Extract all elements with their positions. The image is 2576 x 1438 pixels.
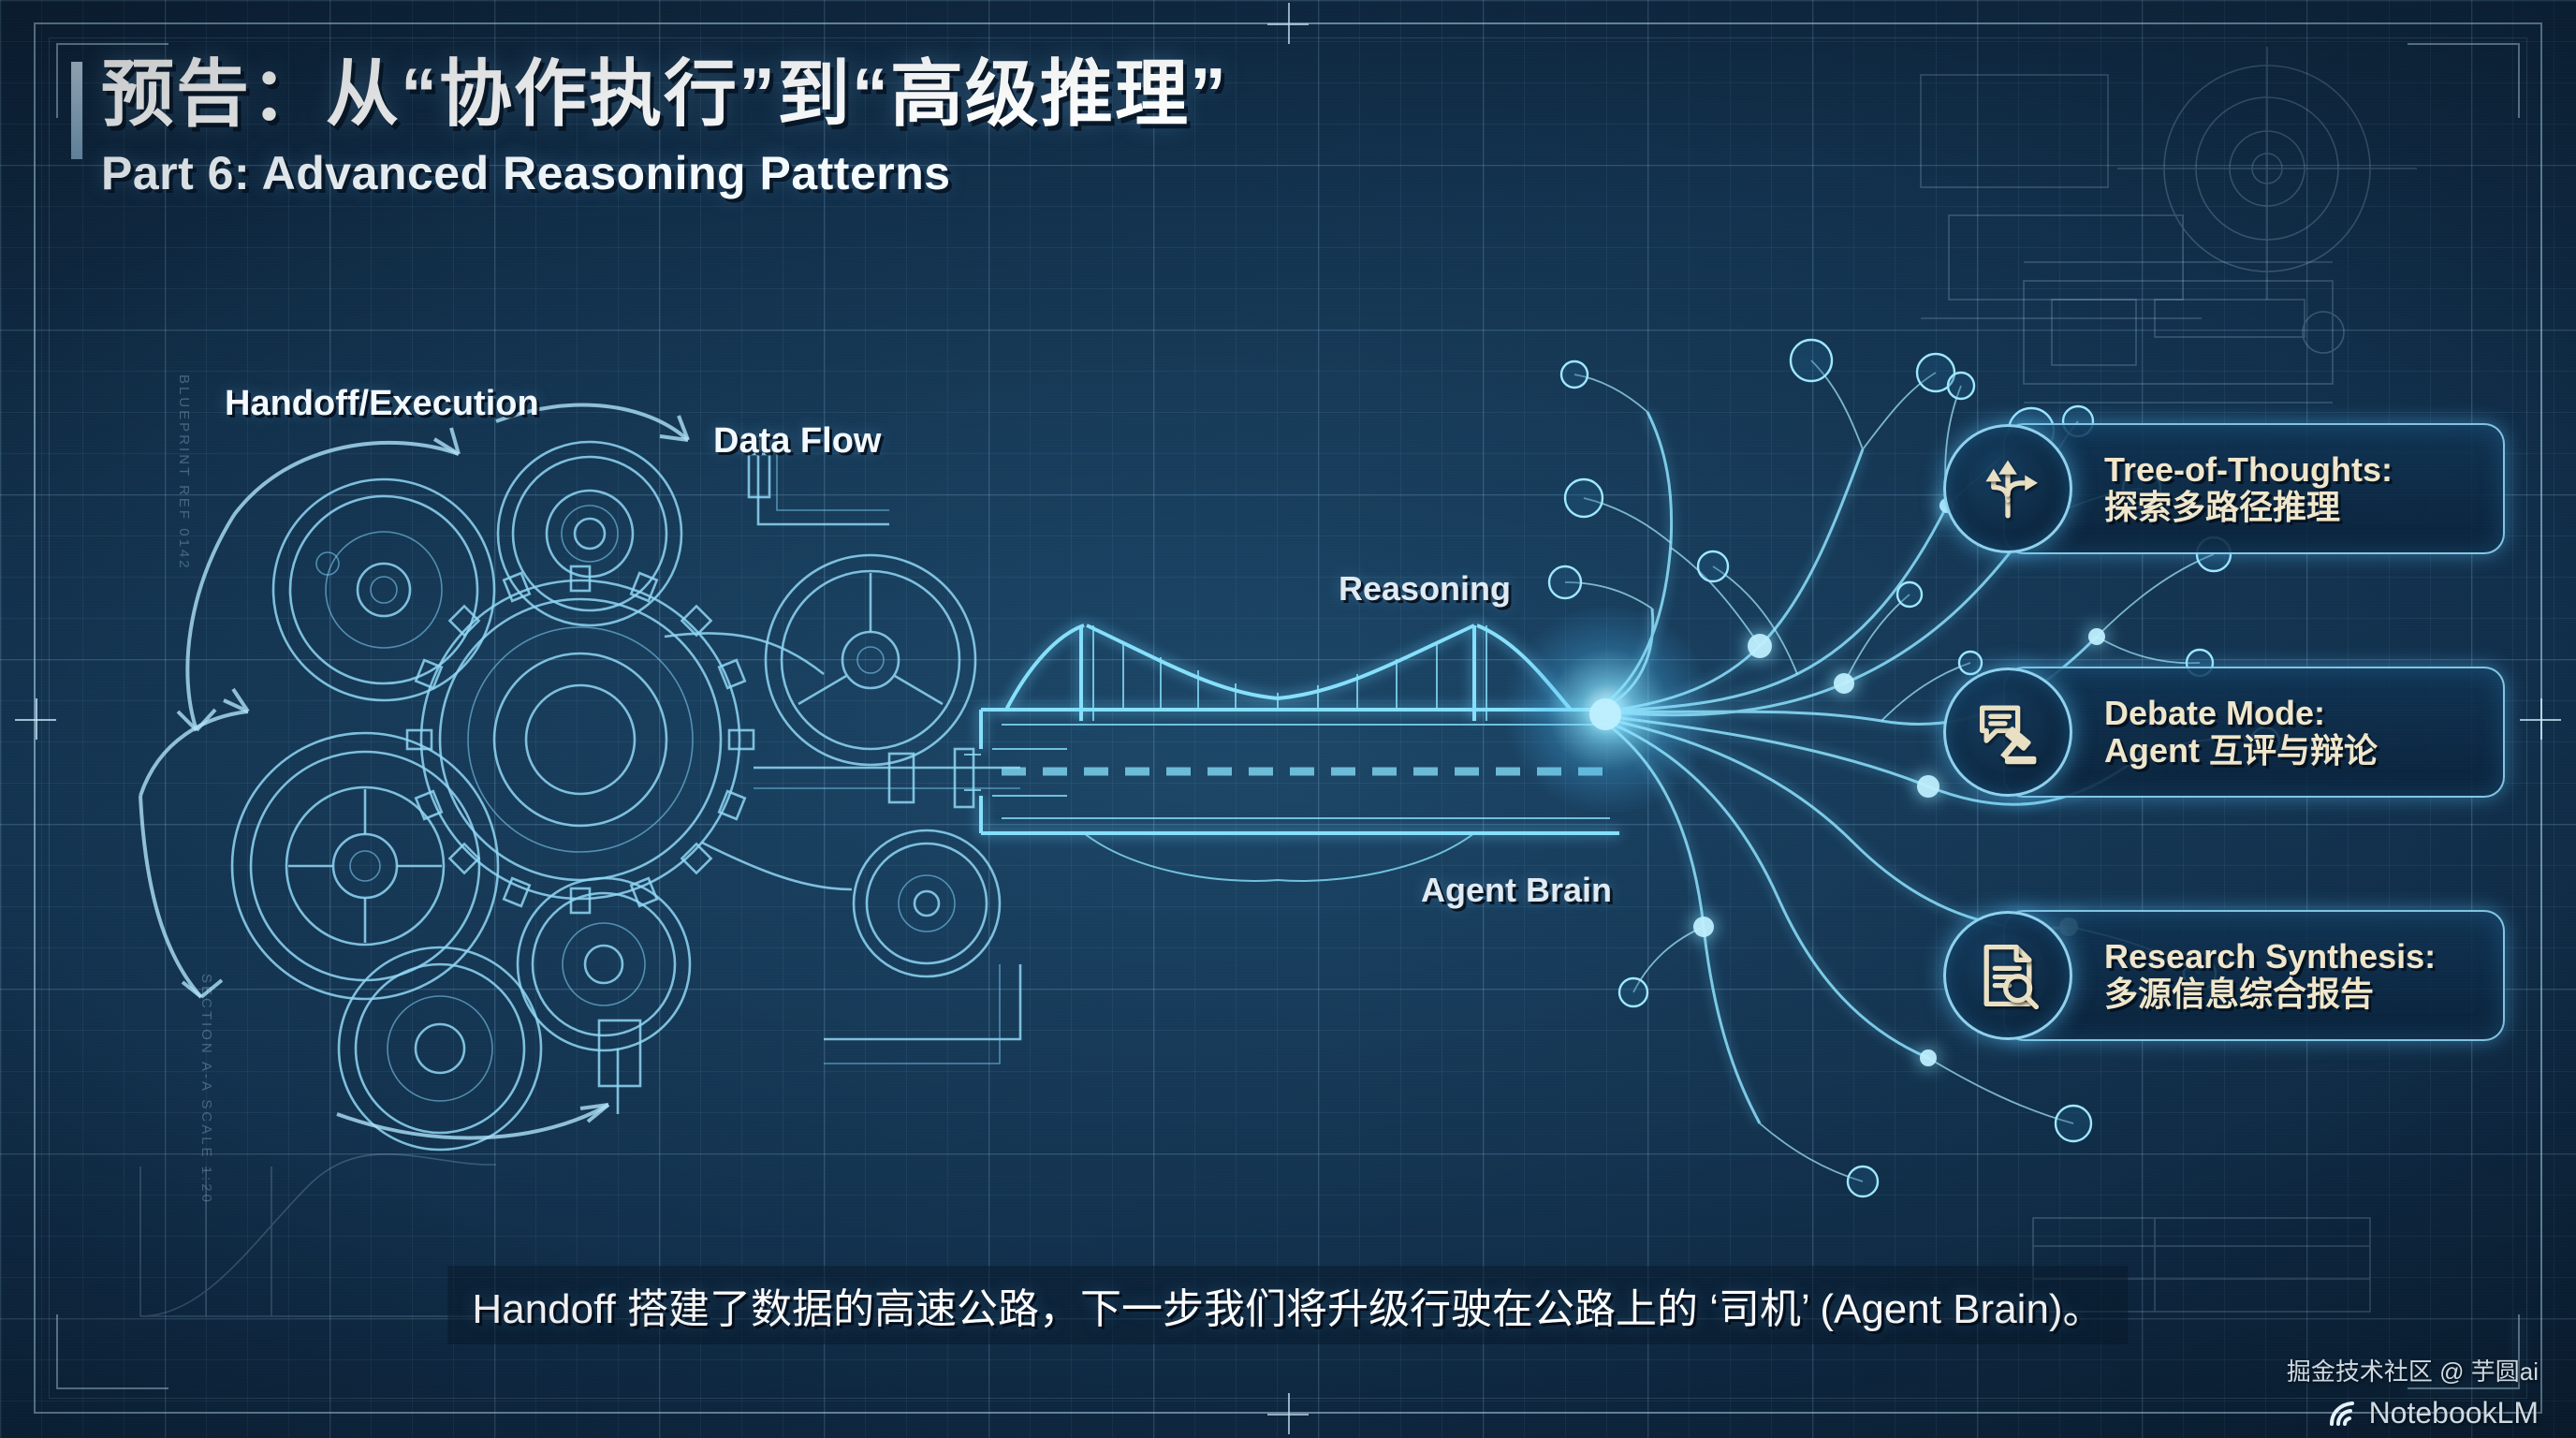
gear-bottom-center: [518, 878, 690, 1050]
caption-text: Handoff 搭建了数据的高速公路，下一步我们将升级行驶在公路上的 ‘司机’ …: [472, 1286, 2103, 1332]
gear-cluster-diagram: [178, 403, 1020, 1114]
watermark-community: 掘金技术社区 @ 芋圆ai: [2287, 1353, 2539, 1387]
card-title-line1: Debate Mode:: [2104, 695, 2378, 732]
watermark-notebooklm-label: NotebookLM: [2369, 1396, 2539, 1431]
frame-corner-top-left: [56, 43, 168, 118]
card-tree-of-thoughts[interactable]: Tree-of-Thoughts: 探索多路径推理: [1943, 423, 2505, 554]
slide-header: 预告：从“协作执行”到“高级推理” Part 6: Advanced Reaso…: [101, 54, 1228, 200]
card-title-line2: Agent 互评与辩论: [2104, 732, 2378, 770]
card-title-line1: Research Synthesis:: [2104, 938, 2436, 976]
frame-corner-bottom-left: [56, 1314, 168, 1389]
slide-root: BLUEPRINT REF 0142 SECTION A-A SCALE 1:2…: [0, 0, 2576, 1438]
label-handoff-execution: Handoff/Execution: [225, 384, 539, 424]
notebooklm-logo-icon: [2328, 1400, 2360, 1428]
card-text: Research Synthesis: 多源信息综合报告: [2104, 938, 2436, 1014]
speech-gavel-icon: [1943, 668, 2072, 797]
gear-upper-left: [273, 479, 494, 700]
reasoning-pattern-cards: Tree-of-Thoughts: 探索多路径推理 Debate Mode:: [1943, 423, 2505, 1041]
gear-large-center: [407, 566, 754, 913]
card-text: Tree-of-Thoughts: 探索多路径推理: [2104, 451, 2393, 527]
piping-and-fittings: [599, 440, 1020, 1114]
card-research-synthesis[interactable]: Research Synthesis: 多源信息综合报告: [1943, 910, 2505, 1041]
page-subtitle: Part 6: Advanced Reasoning Patterns: [101, 146, 1228, 200]
card-title-line1: Tree-of-Thoughts:: [2104, 451, 2393, 489]
card-title-line2: 探索多路径推理: [2104, 489, 2393, 526]
gear-top-small: [498, 442, 681, 625]
watermark-notebooklm: NotebookLM: [2328, 1396, 2539, 1431]
card-debate-mode[interactable]: Debate Mode: Agent 互评与辩论: [1943, 667, 2505, 798]
gear-bottom-left-small: [339, 947, 541, 1150]
label-reasoning: Reasoning: [1339, 569, 1511, 609]
subtitle-caption: Handoff 搭建了数据的高速公路，下一步我们将升级行驶在公路上的 ‘司机’ …: [447, 1266, 2128, 1344]
label-data-flow: Data Flow: [713, 421, 881, 462]
gear-arrows: [140, 405, 688, 1138]
frame-corner-top-right: [2408, 43, 2520, 118]
gear-right-three-spoke: [766, 555, 975, 765]
card-text: Debate Mode: Agent 互评与辩论: [2104, 695, 2378, 770]
label-agent-brain: Agent Brain: [1421, 871, 1612, 910]
branching-arrows-icon: [1943, 424, 2072, 553]
card-title-line2: 多源信息综合报告: [2104, 976, 2436, 1013]
document-search-icon: [1943, 911, 2072, 1040]
page-title: 预告：从“协作执行”到“高级推理”: [101, 54, 1228, 133]
